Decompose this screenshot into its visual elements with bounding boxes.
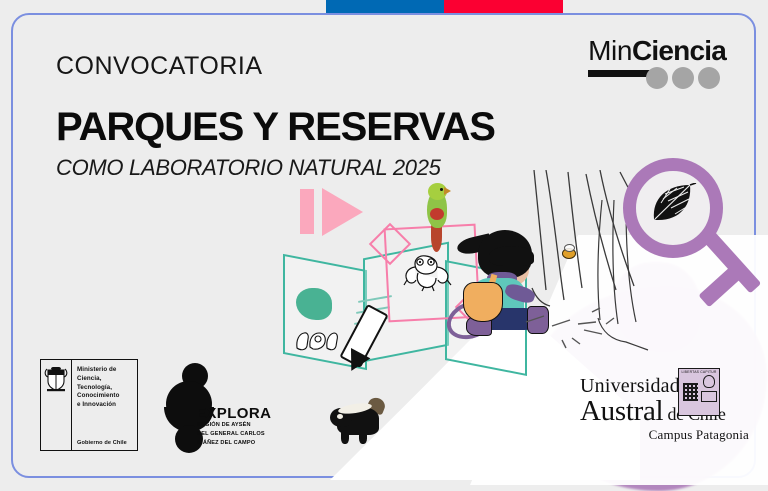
ministry-name: Ministerio de Ciencia, Tecnología, Conoc… [77, 366, 133, 410]
university-logo: LIBERTAS CAPITUR Universidad Austral de … [580, 376, 755, 452]
university-line-2: Austral de Chile [580, 397, 755, 426]
subtitle-text: COMO LABORATORIO NATURAL 2025 [56, 157, 495, 179]
chile-coat-of-arms-icon [44, 367, 68, 393]
kicker-text: CONVOCATORIA [56, 54, 495, 79]
minciencia-ciencia: Ciencia [632, 35, 726, 66]
university-crest-icon: LIBERTAS CAPITUR [678, 368, 720, 416]
crest-building [683, 383, 698, 401]
minciencia-wordmark: MinCiencia [588, 37, 726, 65]
crest-motto: LIBERTAS CAPITUR [679, 369, 719, 374]
headline-block: CONVOCATORIA PARQUES Y RESERVAS COMO LAB… [56, 54, 495, 179]
explora-wordmark: EXPLORA [196, 405, 271, 422]
government-logo: Ministerio de Ciencia, Tecnología, Conoc… [40, 359, 138, 451]
university-campus: Campus Patagonia [580, 427, 755, 443]
minciencia-dot [672, 67, 694, 89]
coat-of-arms-container [41, 360, 72, 450]
poster-canvas: CONVOCATORIA PARQUES Y RESERVAS COMO LAB… [0, 0, 768, 491]
crest-book [701, 391, 717, 402]
government-logo-text: Ministerio de Ciencia, Tecnología, Conoc… [72, 360, 137, 450]
minciencia-bar [588, 70, 650, 77]
university-austral: Austral [580, 395, 663, 427]
page-title: PARQUES Y RESERVAS [56, 107, 495, 147]
minciencia-logo: MinCiencia [588, 37, 726, 89]
crest-tree [703, 375, 715, 388]
government-footer: Gobierno de Chile [77, 440, 133, 446]
explora-region-text: REGIÓN DE AYSÉN DEL GENERAL CARLOS IBÁÑE… [197, 421, 265, 448]
minciencia-dot [646, 67, 668, 89]
university-line-1: Universidad [580, 376, 755, 396]
minciencia-marks [588, 67, 726, 89]
minciencia-dot [698, 67, 720, 89]
explora-logo: EXPLORA REGIÓN DE AYSÉN DEL GENERAL CARL… [156, 363, 276, 455]
minciencia-min: Min [588, 35, 632, 66]
